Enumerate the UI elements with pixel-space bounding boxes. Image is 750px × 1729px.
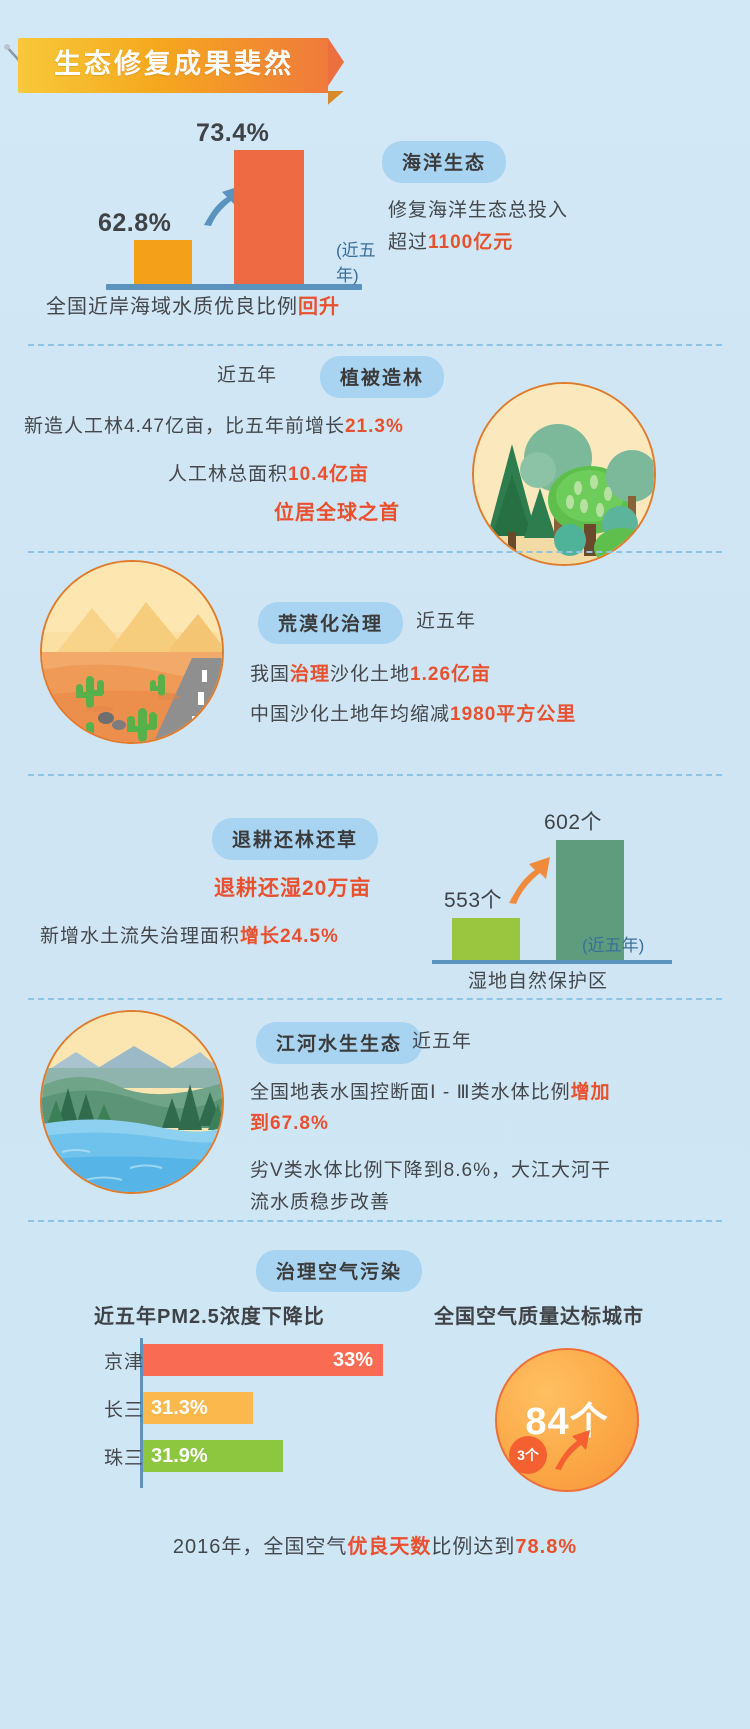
river-line-2: 到67.8% — [250, 1108, 329, 1135]
up-arrow-icon — [506, 848, 554, 906]
river-line-1-highlight: 增加 — [571, 1082, 611, 1103]
river-year: 近五年 — [412, 1026, 472, 1053]
ocean-chart-note: (近五年) — [336, 236, 396, 286]
desert-illustration — [40, 560, 224, 744]
desert-line-2-b: 1980平方公里 — [450, 704, 576, 725]
ocean-caption-highlight: 回升 — [298, 296, 340, 318]
desert-line-1-b: 治理 — [290, 664, 330, 685]
desert-line-2-a: 中国沙化土地年均缩减 — [250, 704, 450, 725]
bar-first — [452, 918, 520, 960]
banner-title: 生态修复成果斐然 — [18, 38, 328, 93]
pm25-bar-value: 31.3% — [143, 1392, 253, 1424]
pm25-bar-value: 33% — [143, 1344, 383, 1376]
divider-1 — [28, 344, 722, 346]
forest-line-2: 人工林总面积10.4亿亩 — [168, 460, 369, 489]
badge-air: 治理空气污染 — [256, 1250, 422, 1292]
river-scene-icon — [42, 1012, 224, 1194]
forest-line-3: 位居全球之首 — [274, 496, 400, 525]
forest-line-1-highlight: 21.3% — [345, 416, 404, 437]
desert-line-1: 我国治理沙化土地1.26亿亩 — [250, 660, 491, 689]
desert-scene-icon — [42, 562, 224, 744]
forest-illustration — [472, 382, 656, 566]
badge-river: 江河水生生态 — [256, 1022, 422, 1064]
pm25-horizontal-bar-chart: 京津冀 33% 长三角 31.3% 珠三角 31.9% — [104, 1338, 384, 1488]
badge-wetland: 退耕还林还草 — [212, 818, 378, 860]
ocean-line-2: 超过1100亿元 — [388, 228, 513, 257]
bar-second — [234, 150, 304, 284]
badge-forest: 植被造林 — [320, 356, 444, 398]
wetland-caption: 湿地自然保护区 — [468, 966, 608, 993]
air-quality-city-circle: 84个 3个 — [495, 1348, 639, 1492]
bar-label-62-8: 62.8% — [98, 209, 171, 238]
up-arrow-icon — [553, 1424, 593, 1472]
wetland-line-2: 新增水土流失治理面积增长24.5% — [40, 922, 339, 951]
ocean-line-2-prefix: 超过 — [388, 232, 428, 253]
ocean-caption: 全国近岸海域水质优良比例回升 — [46, 290, 340, 319]
wetland-chart-note: (近五年) — [582, 931, 644, 956]
pm25-region-label: 珠三角 — [104, 1443, 134, 1470]
wetland-line-2-prefix: 新增水土流失治理面积 — [40, 926, 240, 947]
divider-2 — [28, 551, 722, 553]
pm25-bar-value: 31.9% — [143, 1440, 283, 1472]
bar-label-73-4: 73.4% — [196, 119, 269, 148]
bar-label-553: 553个 — [444, 884, 502, 914]
divider-3 — [28, 774, 722, 776]
desert-line-2: 中国沙化土地年均缩减1980平方公里 — [250, 700, 576, 729]
ocean-caption-text: 全国近岸海域水质优良比例 — [46, 296, 298, 318]
desert-line-1-d: 1.26亿亩 — [410, 664, 491, 685]
air-footer-text: 2016年，全国空气优良天数比例达到78.8% — [0, 1530, 750, 1559]
forest-year: 近五年 — [217, 360, 277, 387]
river-line-1-prefix: 全国地表水国控断面Ⅰ - Ⅲ类水体比例 — [250, 1082, 571, 1103]
divider-4 — [28, 998, 722, 1000]
chart-baseline — [432, 960, 672, 964]
river-line-3: 劣V类水体比例下降到8.6%，大江大河干 — [250, 1156, 611, 1185]
air-footer-c: 比例达到 — [431, 1536, 515, 1558]
wetland-bar-chart: 553个 602个 (近五年) — [430, 786, 680, 964]
ocean-line-2-highlight: 1100亿元 — [428, 232, 513, 253]
ocean-bar-chart: 62.8% 73.4% (近五年) — [96, 100, 396, 290]
desert-line-1-a: 我国 — [250, 664, 290, 685]
city-count-3: 3个 — [509, 1436, 547, 1474]
air-footer-d: 78.8% — [515, 1536, 577, 1558]
city-chart-title: 全国空气质量达标城市 — [434, 1300, 644, 1329]
pm25-chart-title: 近五年PM2.5浓度下降比 — [94, 1300, 325, 1329]
air-footer-a: 2016年，全国空气 — [173, 1536, 348, 1558]
pm25-region-label: 长三角 — [104, 1395, 134, 1422]
forest-line-2-prefix: 人工林总面积 — [168, 464, 288, 485]
river-illustration — [40, 1010, 224, 1194]
air-footer-b: 优良天数 — [347, 1536, 431, 1558]
title-banner: 生态修复成果斐然 — [18, 38, 328, 93]
river-line-1: 全国地表水国控断面Ⅰ - Ⅲ类水体比例增加 — [250, 1078, 611, 1107]
desert-year: 近五年 — [416, 606, 476, 633]
pm25-region-label: 京津冀 — [104, 1347, 134, 1374]
badge-desert: 荒漠化治理 — [258, 602, 403, 644]
forest-line-1: 新造人工林4.47亿亩，比五年前增长21.3% — [24, 412, 404, 441]
wetland-line-2-highlight: 增长24.5% — [240, 926, 339, 947]
desert-line-1-c: 沙化土地 — [330, 664, 410, 685]
bar-label-602: 602个 — [544, 806, 602, 836]
ocean-line-1: 修复海洋生态总投入 — [388, 196, 568, 225]
infographic-page: 生态修复成果斐然 62.8% 73.4% (近五年) 全国近岸海域水质优良比例回… — [0, 0, 750, 1729]
badge-ocean: 海洋生态 — [382, 141, 506, 183]
wetland-line-1: 退耕还湿20万亩 — [214, 872, 371, 902]
forest-line-1-prefix: 新造人工林4.47亿亩，比五年前增长 — [24, 416, 345, 437]
river-line-4: 流水质稳步改善 — [250, 1188, 390, 1217]
divider-5 — [28, 1220, 722, 1222]
forest-scene-icon — [474, 384, 656, 566]
banner-tail-shape — [328, 38, 344, 86]
bar-first — [134, 240, 192, 284]
forest-line-2-highlight: 10.4亿亩 — [288, 464, 369, 485]
